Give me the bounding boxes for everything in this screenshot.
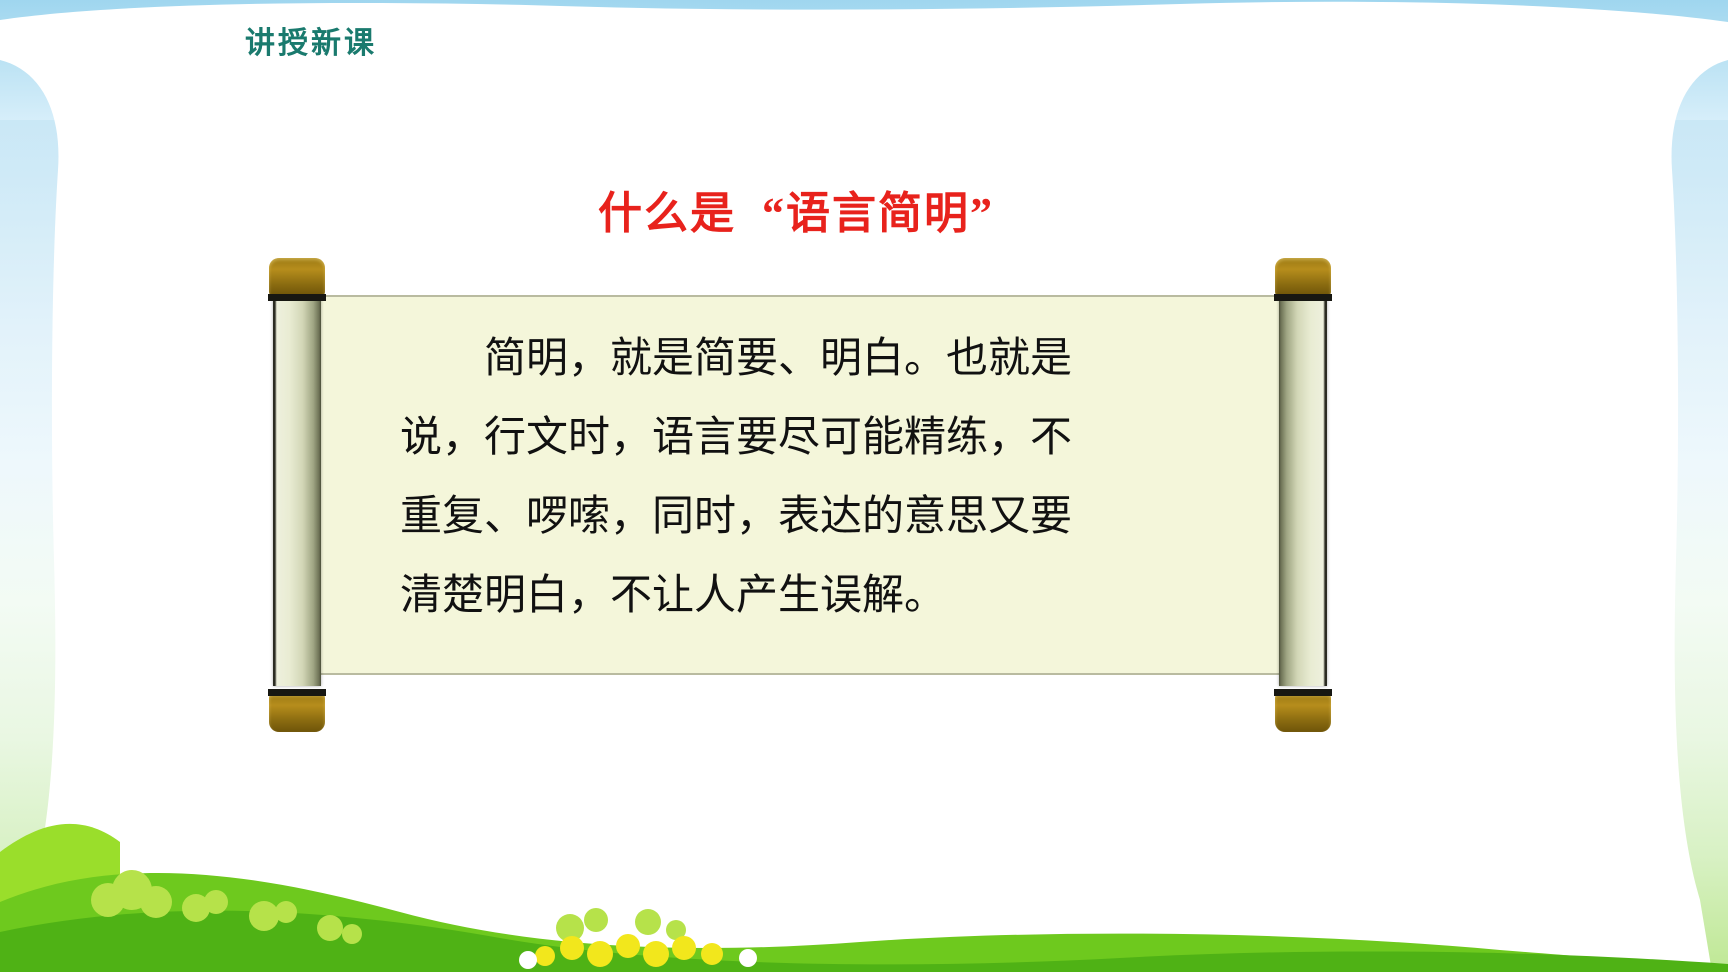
body-line-3: 重复、啰嗦，同时，表达的意思又要	[400, 478, 1200, 557]
scroll-band-bottom-right	[1274, 689, 1332, 696]
scroll-graphic: 简明，就是简要、明白。也就是 说，行文时，语言要尽可能精练，不 重复、啰嗦，同时…	[255, 250, 1345, 740]
section-heading: 什么是“语言简明”	[598, 184, 1068, 243]
scroll-band-top-left	[268, 294, 326, 301]
page-title: 讲授新课	[245, 18, 377, 62]
scroll-band-top-right	[1274, 294, 1332, 301]
slide-canvas: 讲授新课 什么是“语言简明” 简明，就是简要、明白。也就是 说，行文时，语言要尽…	[0, 0, 1728, 972]
scroll-body-text: 简明，就是简要、明白。也就是 说，行文时，语言要尽可能精练，不 重复、啰嗦，同时…	[400, 320, 1200, 636]
scroll-knob-bottom-left	[269, 694, 325, 732]
body-line-1: 简明，就是简要、明白。也就是	[400, 320, 1200, 399]
scroll-band-bottom-left	[268, 689, 326, 696]
scroll-rod-left	[273, 286, 321, 686]
scroll-rod-right	[1279, 286, 1327, 686]
scroll-knob-top-right	[1275, 258, 1331, 296]
scroll-knob-bottom-right	[1275, 694, 1331, 732]
body-line-4: 清楚明白，不让人产生误解。	[400, 557, 1200, 636]
heading-part-2: “语言简明	[762, 189, 970, 238]
body-line-1-text: 简明，就是简要、明白。也就是	[484, 336, 1072, 382]
scroll-knob-top-left	[269, 258, 325, 296]
heading-part-1: 什么是	[598, 189, 736, 238]
heading-closing-quote: ”	[970, 189, 994, 238]
body-line-2: 说，行文时，语言要尽可能精练，不	[400, 399, 1200, 478]
